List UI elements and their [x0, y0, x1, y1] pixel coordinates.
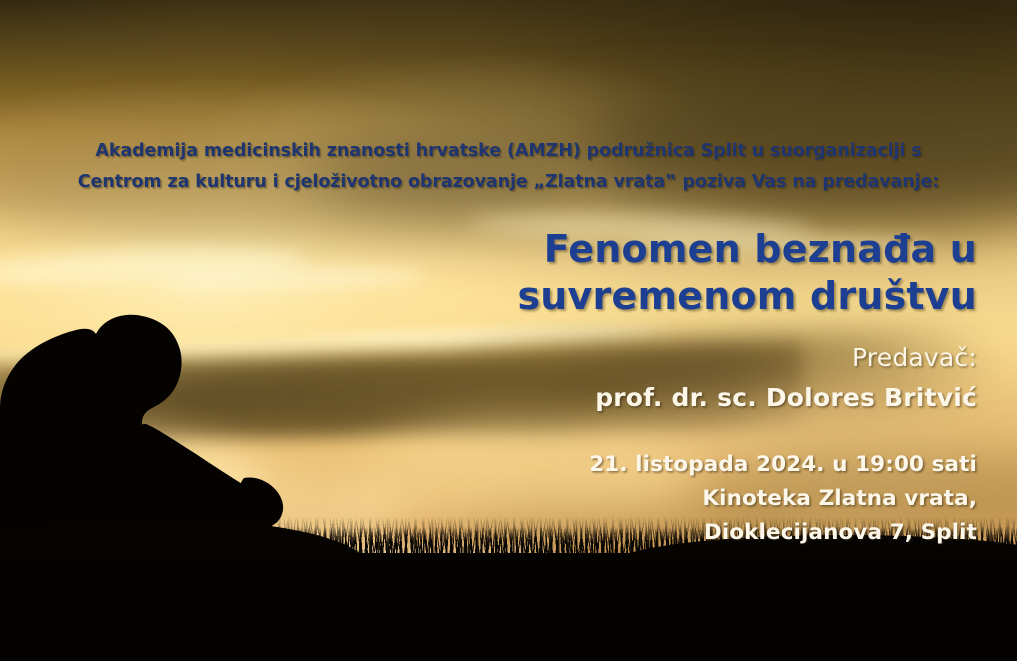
event-address: Dioklecijanova 7, Split — [589, 516, 977, 550]
speaker-name: prof. dr. sc. Dolores Britvić — [595, 382, 977, 414]
lecture-title: Fenomen beznađa u suvremenom društvu — [517, 226, 977, 320]
lecture-title-line-1: Fenomen beznađa u — [517, 226, 977, 273]
speaker-label: Predavač: — [852, 342, 977, 374]
event-details: 21. listopada 2024. u 19:00 sati Kinotek… — [589, 448, 977, 550]
organizer-header: Akademija medicinskih znanosti hrvatske … — [0, 136, 1017, 198]
ground-dark-mass — [0, 553, 1017, 661]
event-datetime: 21. listopada 2024. u 19:00 sati — [589, 448, 977, 482]
organizer-header-line-1: Akademija medicinskih znanosti hrvatske … — [26, 136, 991, 167]
event-poster: Akademija medicinskih znanosti hrvatske … — [0, 0, 1017, 661]
lecture-title-line-2: suvremenom društvu — [517, 273, 977, 320]
event-venue: Kinoteka Zlatna vrata, — [589, 482, 977, 516]
organizer-header-line-2: Centrom za kulturu i cjeloživotno obrazo… — [26, 167, 991, 198]
